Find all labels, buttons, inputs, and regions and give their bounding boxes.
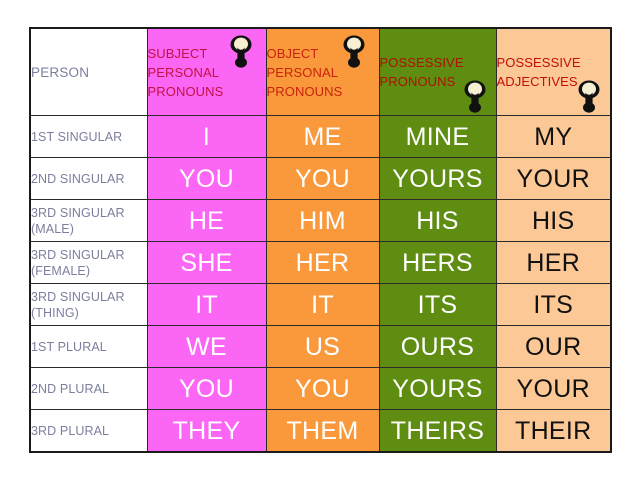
column-header-person-label: PERSON xyxy=(31,65,147,80)
table-row: 2ND SINGULAR YOU YOU YOURS YOUR xyxy=(30,158,611,200)
cell-object-pronoun: THEM xyxy=(266,410,379,453)
column-header-object-line-3: PRONOUNS xyxy=(267,82,379,101)
pronouns-table: PERSON SUBJECT PERSONAL PRONOUNS xyxy=(29,27,612,453)
cell-possessive-adjective: THEIR xyxy=(496,410,611,453)
table-row: 3RD SINGULAR (THING) IT IT ITS ITS xyxy=(30,284,611,326)
cell-object-pronoun: IT xyxy=(266,284,379,326)
table-row: 1ST SINGULAR I ME MINE MY xyxy=(30,116,611,158)
column-header-subject-line-2: PERSONAL xyxy=(148,63,266,82)
column-header-object-personal-pronouns: OBJECT PERSONAL PRONOUNS xyxy=(266,28,379,116)
table-head: PERSON SUBJECT PERSONAL PRONOUNS xyxy=(30,28,611,116)
cell-object-pronoun: YOU xyxy=(266,368,379,410)
row-label-person: 3RD SINGULAR (MALE) xyxy=(30,200,147,242)
page-root: PERSON SUBJECT PERSONAL PRONOUNS xyxy=(0,0,640,480)
row-label-person: 3RD PLURAL xyxy=(30,410,147,453)
cell-possessive-adjective: HIS xyxy=(496,200,611,242)
cell-subject-pronoun: THEY xyxy=(147,410,266,453)
cell-subject-pronoun: YOU xyxy=(147,158,266,200)
column-header-person: PERSON xyxy=(30,28,147,116)
column-header-possessive-adjectives: POSSESSIVE ADJECTIVES xyxy=(496,28,611,116)
cell-possessive-pronoun: THEIRS xyxy=(379,410,496,453)
cell-subject-pronoun: I xyxy=(147,116,266,158)
cell-subject-pronoun: HE xyxy=(147,200,266,242)
column-header-possessive-adjectives-line-1: POSSESSIVE xyxy=(497,53,611,72)
column-header-possessive-adjectives-line-2: ADJECTIVES xyxy=(497,72,611,91)
cell-subject-pronoun: SHE xyxy=(147,242,266,284)
cell-object-pronoun: HER xyxy=(266,242,379,284)
cell-possessive-adjective: HER xyxy=(496,242,611,284)
column-header-object-line-1: OBJECT xyxy=(267,44,379,63)
cell-possessive-adjective: ITS xyxy=(496,284,611,326)
row-label-person: 1ST PLURAL xyxy=(30,326,147,368)
cell-object-pronoun: US xyxy=(266,326,379,368)
cell-subject-pronoun: WE xyxy=(147,326,266,368)
cell-possessive-adjective: YOUR xyxy=(496,158,611,200)
row-label-person: 1ST SINGULAR xyxy=(30,116,147,158)
cell-possessive-adjective: OUR xyxy=(496,326,611,368)
row-label-person: 2ND SINGULAR xyxy=(30,158,147,200)
table-row: 3RD PLURAL THEY THEM THEIRS THEIR xyxy=(30,410,611,453)
column-header-possessive-pronouns-line-1: POSSESSIVE xyxy=(380,53,496,72)
cell-subject-pronoun: YOU xyxy=(147,368,266,410)
cell-subject-pronoun: IT xyxy=(147,284,266,326)
cell-possessive-pronoun: OURS xyxy=(379,326,496,368)
cell-possessive-adjective: MY xyxy=(496,116,611,158)
cell-possessive-adjective: YOUR xyxy=(496,368,611,410)
cell-possessive-pronoun: YOURS xyxy=(379,158,496,200)
table-row: 3RD SINGULAR (MALE) HE HIM HIS HIS xyxy=(30,200,611,242)
column-header-object-line-2: PERSONAL xyxy=(267,63,379,82)
cell-possessive-pronoun: MINE xyxy=(379,116,496,158)
cell-possessive-pronoun: HERS xyxy=(379,242,496,284)
cell-possessive-pronoun: YOURS xyxy=(379,368,496,410)
cell-possessive-pronoun: ITS xyxy=(379,284,496,326)
cell-possessive-pronoun: HIS xyxy=(379,200,496,242)
row-label-person: 3RD SINGULAR (FEMALE) xyxy=(30,242,147,284)
table-row: 2ND PLURAL YOU YOU YOURS YOUR xyxy=(30,368,611,410)
table-header-row: PERSON SUBJECT PERSONAL PRONOUNS xyxy=(30,28,611,116)
table-row: 1ST PLURAL WE US OURS OUR xyxy=(30,326,611,368)
column-header-subject-line-3: PRONOUNS xyxy=(148,82,266,101)
row-label-person: 2ND PLURAL xyxy=(30,368,147,410)
column-header-possessive-pronouns-line-2: PRONOUNS xyxy=(380,72,496,91)
cell-object-pronoun: YOU xyxy=(266,158,379,200)
column-header-possessive-pronouns: POSSESSIVE PRONOUNS xyxy=(379,28,496,116)
cell-object-pronoun: ME xyxy=(266,116,379,158)
column-header-subject-line-1: SUBJECT xyxy=(148,44,266,63)
column-header-subject-personal-pronouns: SUBJECT PERSONAL PRONOUNS xyxy=(147,28,266,116)
table-body: 1ST SINGULAR I ME MINE MY 2ND SINGULAR Y… xyxy=(30,116,611,453)
row-label-person: 3RD SINGULAR (THING) xyxy=(30,284,147,326)
table-row: 3RD SINGULAR (FEMALE) SHE HER HERS HER xyxy=(30,242,611,284)
cell-object-pronoun: HIM xyxy=(266,200,379,242)
